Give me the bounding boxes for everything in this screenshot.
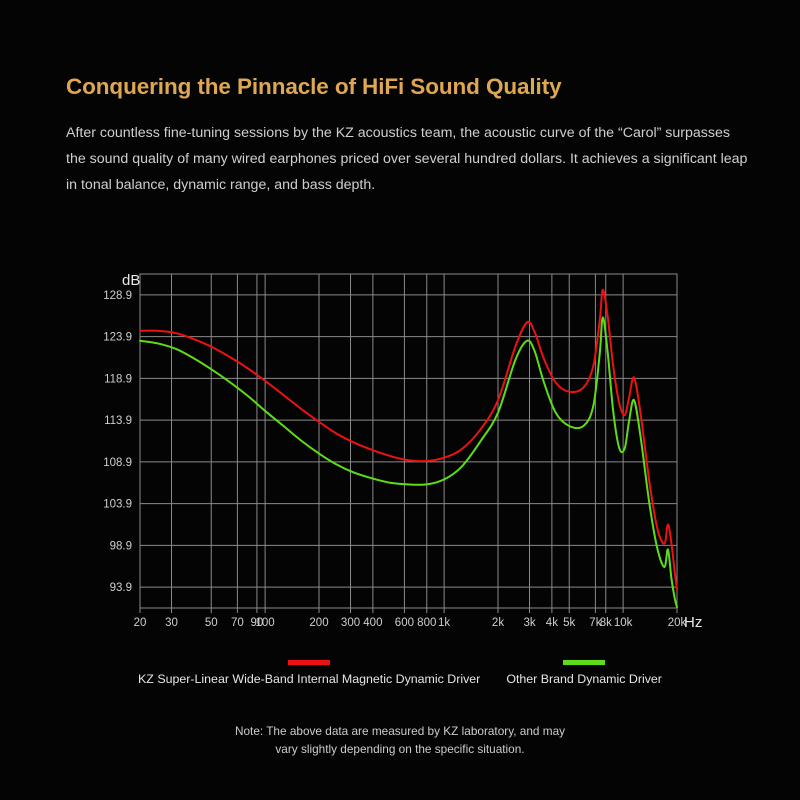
- product-spec-page: Conquering the Pinnacle of HiFi Sound Qu…: [0, 0, 800, 800]
- svg-text:300: 300: [341, 617, 360, 629]
- x-axis-unit-label: Hz: [684, 614, 702, 631]
- svg-text:1k: 1k: [438, 617, 450, 629]
- svg-text:123.9: 123.9: [103, 332, 132, 344]
- svg-text:113.9: 113.9: [104, 415, 132, 427]
- chart-note-line-1: Note: The above data are measured by KZ …: [0, 722, 800, 740]
- svg-text:20: 20: [134, 617, 147, 629]
- svg-text:8k: 8k: [600, 617, 612, 629]
- svg-text:3k: 3k: [523, 617, 535, 629]
- svg-text:93.9: 93.9: [110, 582, 132, 594]
- chart-legend: KZ Super-Linear Wide-Band Internal Magne…: [0, 660, 800, 686]
- svg-text:400: 400: [363, 617, 382, 629]
- svg-text:50: 50: [205, 617, 218, 629]
- line-swatch-icon: [288, 660, 330, 665]
- chart-grid: [140, 274, 677, 608]
- legend-label-other: Other Brand Dynamic Driver: [506, 672, 662, 686]
- svg-text:4k: 4k: [546, 617, 558, 629]
- line-swatch-icon: [563, 660, 605, 665]
- legend-item-other: Other Brand Dynamic Driver: [506, 660, 662, 686]
- svg-text:30: 30: [165, 617, 178, 629]
- svg-text:10k: 10k: [614, 617, 633, 629]
- svg-text:600: 600: [395, 617, 414, 629]
- chart-series: [140, 290, 677, 607]
- legend-label-kz: KZ Super-Linear Wide-Band Internal Magne…: [138, 672, 480, 686]
- svg-text:5k: 5k: [563, 617, 575, 629]
- svg-text:100: 100: [256, 617, 275, 629]
- chart-ticks: 128.9123.9118.9113.9108.9103.998.993.920…: [103, 290, 686, 629]
- svg-text:128.9: 128.9: [103, 290, 132, 302]
- svg-text:103.9: 103.9: [103, 499, 132, 511]
- svg-text:70: 70: [231, 617, 244, 629]
- y-axis-unit-label: dB: [122, 272, 140, 289]
- svg-text:200: 200: [309, 617, 328, 629]
- svg-text:98.9: 98.9: [110, 540, 132, 552]
- svg-text:118.9: 118.9: [104, 373, 132, 385]
- svg-text:108.9: 108.9: [103, 457, 132, 469]
- chart-note-line-2: vary slightly depending on the specific …: [0, 740, 800, 758]
- chart-note: Note: The above data are measured by KZ …: [0, 722, 800, 758]
- svg-text:2k: 2k: [492, 617, 504, 629]
- svg-text:800: 800: [417, 617, 436, 629]
- legend-item-kz: KZ Super-Linear Wide-Band Internal Magne…: [138, 660, 480, 686]
